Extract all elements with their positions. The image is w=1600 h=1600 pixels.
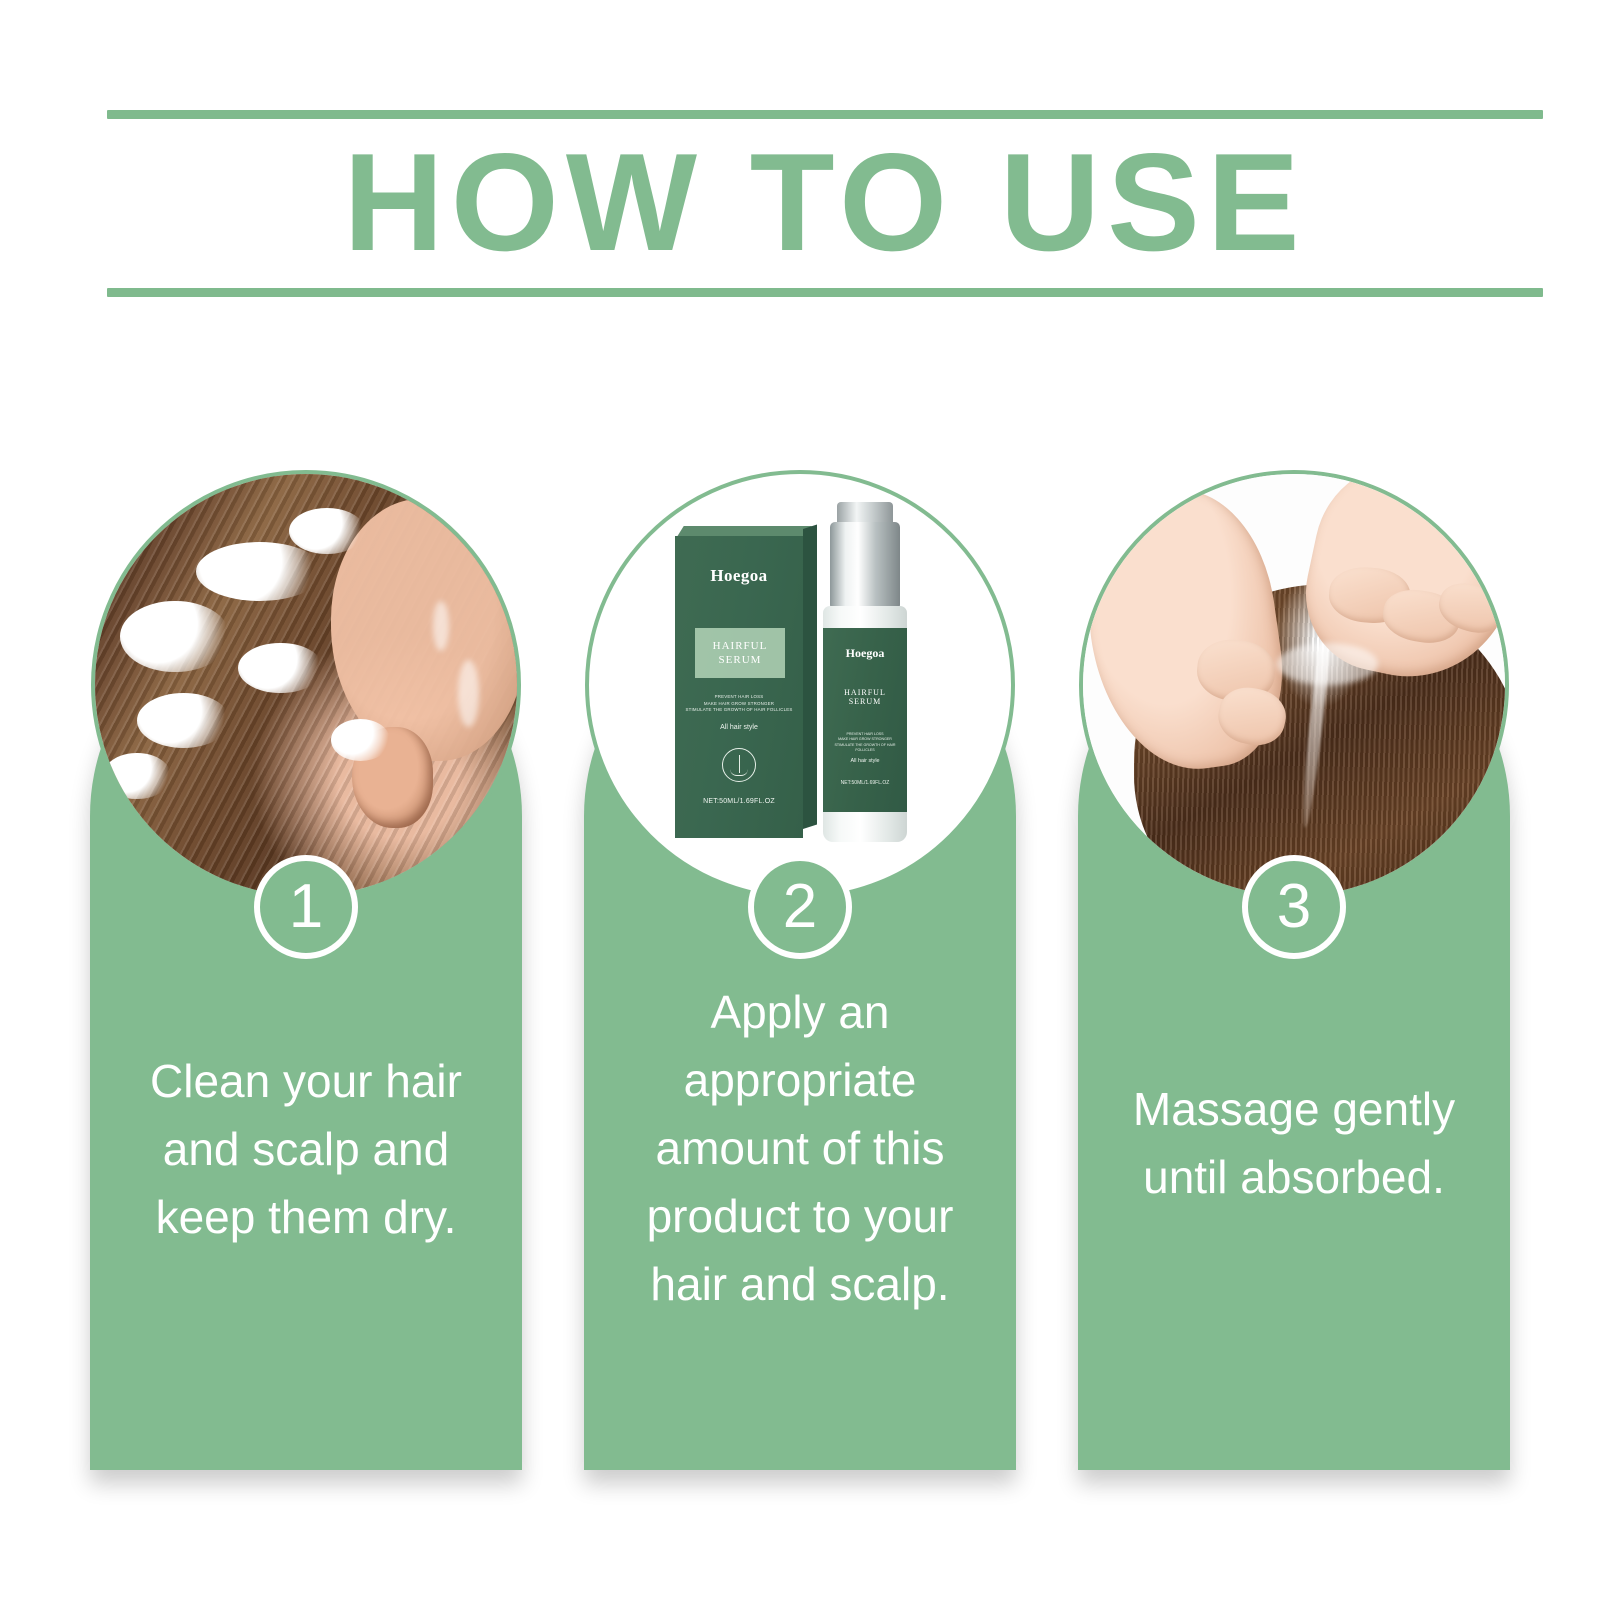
- box-net-weight: NET:50ML/1.69FL.OZ: [683, 798, 795, 805]
- box-name-line-2: SERUM: [719, 654, 762, 666]
- step-card-1[interactable]: 1 Clean your hair and scalp and keep the…: [90, 600, 522, 1470]
- hair-texture: [95, 474, 517, 896]
- bottle-name-line-2: SERUM: [823, 697, 907, 706]
- box-claim-3: STIMULATE THE GROWTH OF HAIR FOLLICLES: [683, 707, 795, 714]
- page-title: HOW TO USE: [107, 118, 1543, 288]
- bottle-brand-label: Hoegoa: [823, 646, 907, 661]
- box-claim-2: MAKE HAIR GROW STRONGER: [683, 701, 795, 708]
- scalp-scene: [1083, 474, 1505, 896]
- product-box: Hoegoa HAIRFUL SERUM PREVENT HAIR LOSS M…: [675, 536, 803, 838]
- step-card-3[interactable]: 3 Massage gently until absorbed.: [1078, 600, 1510, 1470]
- serum-bottle: Hoegoa HAIRFUL SERUM PREVENT HAIR LOSS M…: [813, 502, 917, 842]
- box-name-line-1: HAIRFUL: [713, 640, 768, 652]
- step-number-badge-3: 3: [1242, 855, 1346, 959]
- foam-blob: [331, 719, 390, 761]
- hair-follicle-icon: [722, 748, 756, 782]
- step-caption-3: Massage gently until absorbed.: [1100, 1075, 1488, 1211]
- bottle-hair-type: All hair style: [825, 758, 905, 764]
- foam-blob: [103, 753, 171, 799]
- foam-blob: [289, 508, 365, 554]
- box-brand-label: Hoegoa: [675, 566, 803, 586]
- product-photo: Hoegoa HAIRFUL SERUM PREVENT HAIR LOSS M…: [585, 470, 1015, 900]
- bottle-label: Hoegoa HAIRFUL SERUM PREVENT HAIR LOSS M…: [823, 628, 907, 812]
- header: HOW TO USE: [107, 100, 1543, 300]
- steps-container: 1 Clean your hair and scalp and keep the…: [0, 470, 1600, 1480]
- step-number-badge-1: 1: [254, 855, 358, 959]
- foam-blob: [137, 693, 230, 748]
- hair-shine: [1277, 643, 1378, 685]
- bottle-claim-3: STIMULATE THE GROWTH OF HAIR FOLLICLES: [825, 743, 905, 754]
- box-claim-1: PREVENT HAIR LOSS: [683, 694, 795, 701]
- box-claims: PREVENT HAIR LOSS MAKE HAIR GROW STRONGE…: [683, 694, 795, 714]
- washing-hair-photo: [91, 470, 521, 900]
- foam-blob: [238, 643, 322, 694]
- left-hand: [1079, 479, 1296, 781]
- step-card-2[interactable]: Hoegoa HAIRFUL SERUM PREVENT HAIR LOSS M…: [584, 600, 1016, 1470]
- step-number-badge-2: 2: [748, 855, 852, 959]
- box-hair-type: All hair style: [683, 724, 795, 731]
- foam-blob: [120, 601, 230, 673]
- bottle-claims: PREVENT HAIR LOSS MAKE HAIR GROW STRONGE…: [825, 732, 905, 754]
- scalp-massage-photo: [1079, 470, 1509, 900]
- water-drip: [458, 660, 479, 728]
- box-name-chip: HAIRFUL SERUM: [695, 628, 785, 678]
- foam-blob: [196, 542, 323, 601]
- step-caption-1: Clean your hair and scalp and keep them …: [112, 1047, 500, 1251]
- infographic-page: HOW TO USE 1: [0, 0, 1600, 1600]
- bottle-net-weight: NET:50ML/1.69FL.OZ: [825, 780, 905, 786]
- bottle-name-line-1: HAIRFUL: [823, 688, 907, 697]
- title-rule-bottom: [107, 288, 1543, 297]
- step-caption-2: Apply an appropriate amount of this prod…: [606, 978, 994, 1318]
- bottle-collar: [830, 522, 900, 610]
- bottle-name-chip: HAIRFUL SERUM: [823, 688, 907, 706]
- product-illustration: Hoegoa HAIRFUL SERUM PREVENT HAIR LOSS M…: [589, 474, 1015, 900]
- bottle-cap: [837, 502, 893, 524]
